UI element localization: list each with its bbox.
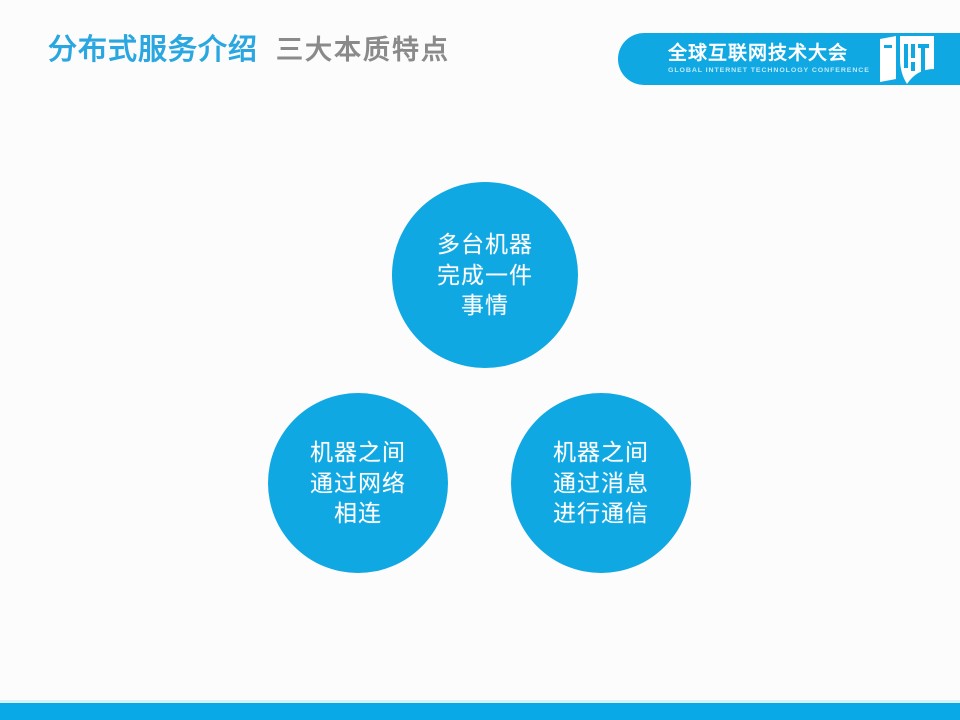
conference-name-en: GLOBAL INTERNET TECHNOLOGY CONFERENCE (668, 67, 870, 74)
page-title-main: 分布式服务介绍 (48, 36, 258, 65)
page-title-sub: 三大本质特点 (276, 37, 450, 64)
concept-circle-bottom-left: 机器之间 通过网络 相连 (268, 393, 448, 573)
concept-circle-bottom-right: 机器之间 通过消息 进行通信 (511, 393, 691, 573)
concept-circle-top-label: 多台机器 完成一件 事情 (437, 229, 533, 320)
footer-bar (0, 703, 960, 720)
conference-name-cn: 全球互联网技术大会 (668, 44, 870, 63)
concept-circle-bottom-left-label: 机器之间 通过网络 相连 (310, 437, 406, 528)
shield-logo-icon (876, 35, 938, 85)
conference-banner-texts: 全球互联网技术大会 GLOBAL INTERNET TECHNOLOGY CON… (668, 44, 870, 74)
slide-canvas: 分布式服务介绍 三大本质特点 全球互联网技术大会 GLOBAL INTERNET… (0, 0, 960, 720)
concept-circle-top: 多台机器 完成一件 事情 (392, 182, 578, 368)
page-title: 分布式服务介绍 三大本质特点 (48, 36, 450, 65)
conference-banner: 全球互联网技术大会 GLOBAL INTERNET TECHNOLOGY CON… (618, 33, 960, 85)
concept-circle-bottom-right-label: 机器之间 通过消息 进行通信 (553, 437, 649, 528)
